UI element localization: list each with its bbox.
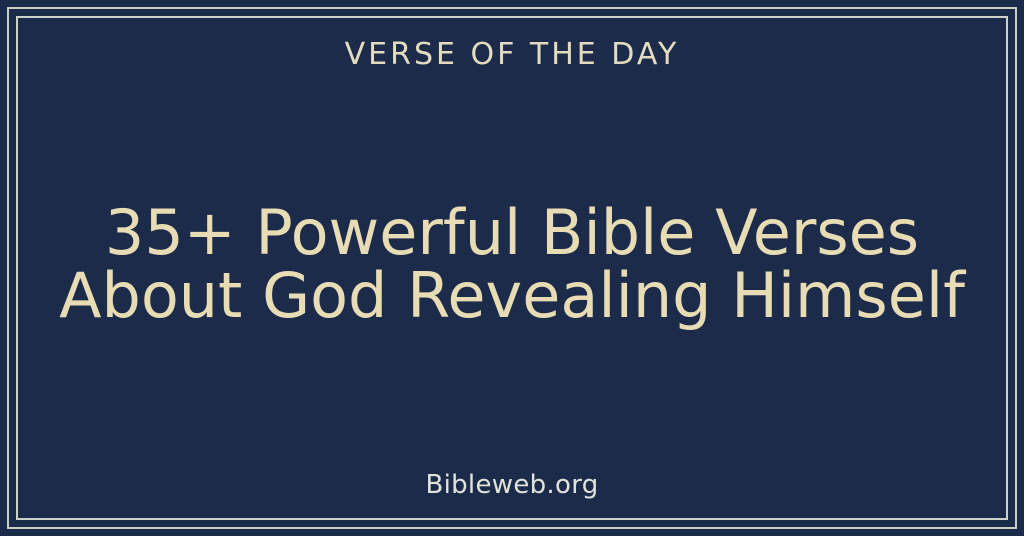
page-title-line-2: About God Revealing Himself (59, 259, 965, 332)
eyebrow-label: VERSE OF THE DAY (345, 40, 680, 70)
page-title: 35+ Powerful Bible Verses About God Reve… (59, 201, 965, 327)
page-title-line-1: 35+ Powerful Bible Verses (105, 196, 919, 269)
headline-container: 35+ Powerful Bible Verses About God Reve… (18, 70, 1006, 472)
verse-of-the-day-card: VERSE OF THE DAY 35+ Powerful Bible Vers… (0, 0, 1024, 536)
card-content: VERSE OF THE DAY 35+ Powerful Bible Vers… (18, 18, 1006, 518)
site-attribution: Bibleweb.org (425, 472, 598, 498)
